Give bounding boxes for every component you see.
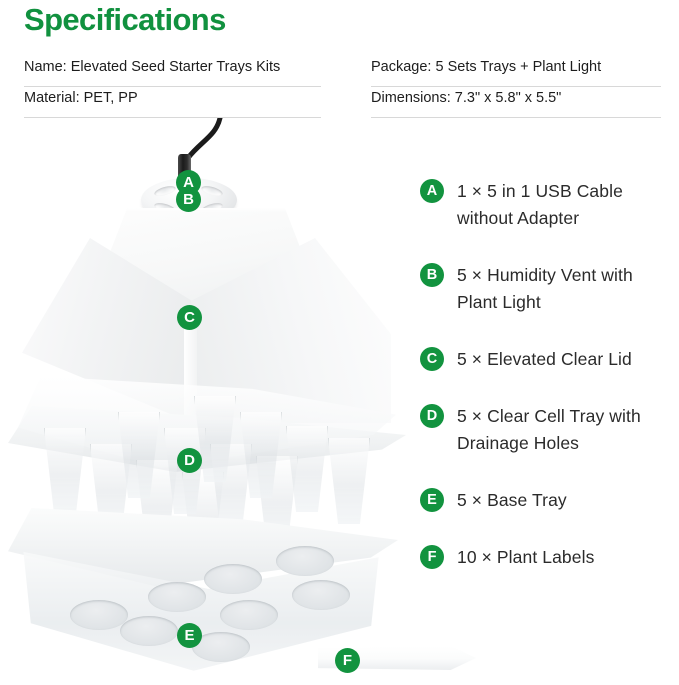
divider [371, 117, 661, 118]
base-tray-dimple [276, 546, 334, 576]
base-tray-dimple [120, 616, 178, 646]
spec-column-left: Name: Elevated Seed Starter Trays Kits M… [24, 56, 321, 118]
legend-item-f: F 10 × Plant Labels [420, 544, 670, 571]
legend-badge-e: E [420, 488, 444, 512]
base-tray-dimple [204, 564, 262, 594]
legend-text-f: 10 × Plant Labels [457, 544, 594, 571]
vent-slot [200, 184, 223, 198]
spec-material-text: Material: PET, PP [24, 88, 138, 108]
spec-name-text: Name: Elevated Seed Starter Trays Kits [24, 57, 280, 77]
callout-badge-e: E [177, 623, 202, 648]
base-tray-dimple [70, 600, 128, 630]
legend-text-d: 5 × Clear Cell Tray with Drainage Holes [457, 403, 670, 457]
legend-item-b: B 5 × Humidity Vent with Plant Light [420, 262, 670, 316]
legend-text-a: 1 × 5 in 1 USB Cable without Adapter [457, 178, 670, 232]
legend-item-d: D 5 × Clear Cell Tray with Drainage Hole… [420, 403, 670, 457]
spec-row-dimensions: Dimensions: 7.3" x 5.8" x 5.5" [371, 87, 661, 118]
legend-text-e: 5 × Base Tray [457, 487, 567, 514]
spec-row-material: Material: PET, PP [24, 87, 321, 118]
spec-row-name: Name: Elevated Seed Starter Trays Kits [24, 56, 321, 87]
callout-badge-f: F [335, 648, 360, 673]
spec-dimensions-text: Dimensions: 7.3" x 5.8" x 5.5" [371, 88, 561, 108]
base-tray-dimple [148, 582, 206, 612]
page-title: Specifications [24, 1, 226, 39]
legend-text-c: 5 × Elevated Clear Lid [457, 346, 632, 373]
legend-badge-d: D [420, 404, 444, 428]
spec-row-package: Package: 5 Sets Trays + Plant Light [371, 56, 661, 87]
base-tray-dimple [220, 600, 278, 630]
legend-badge-a: A [420, 179, 444, 203]
spec-package-text: Package: 5 Sets Trays + Plant Light [371, 57, 601, 77]
legend-item-c: C 5 × Elevated Clear Lid [420, 346, 670, 373]
legend-badge-c: C [420, 347, 444, 371]
legend-badge-f: F [420, 545, 444, 569]
specifications-table: Name: Elevated Seed Starter Trays Kits M… [0, 56, 679, 118]
legend-badge-b: B [420, 263, 444, 287]
legend-item-e: E 5 × Base Tray [420, 487, 670, 514]
base-tray-dimple [292, 580, 350, 610]
callout-badge-d: D [177, 448, 202, 473]
tray-cell [44, 428, 86, 514]
vent-slot [153, 184, 176, 198]
legend-item-a: A 1 × 5 in 1 USB Cable without Adapter [420, 178, 670, 232]
product-illustration: A B C D E [0, 118, 410, 685]
legend-list: A 1 × 5 in 1 USB Cable without Adapter B… [420, 178, 670, 571]
callout-badge-c: C [177, 305, 202, 330]
legend-text-b: 5 × Humidity Vent with Plant Light [457, 262, 670, 316]
callout-badge-b: B [176, 187, 201, 212]
spec-column-right: Package: 5 Sets Trays + Plant Light Dime… [371, 56, 661, 118]
